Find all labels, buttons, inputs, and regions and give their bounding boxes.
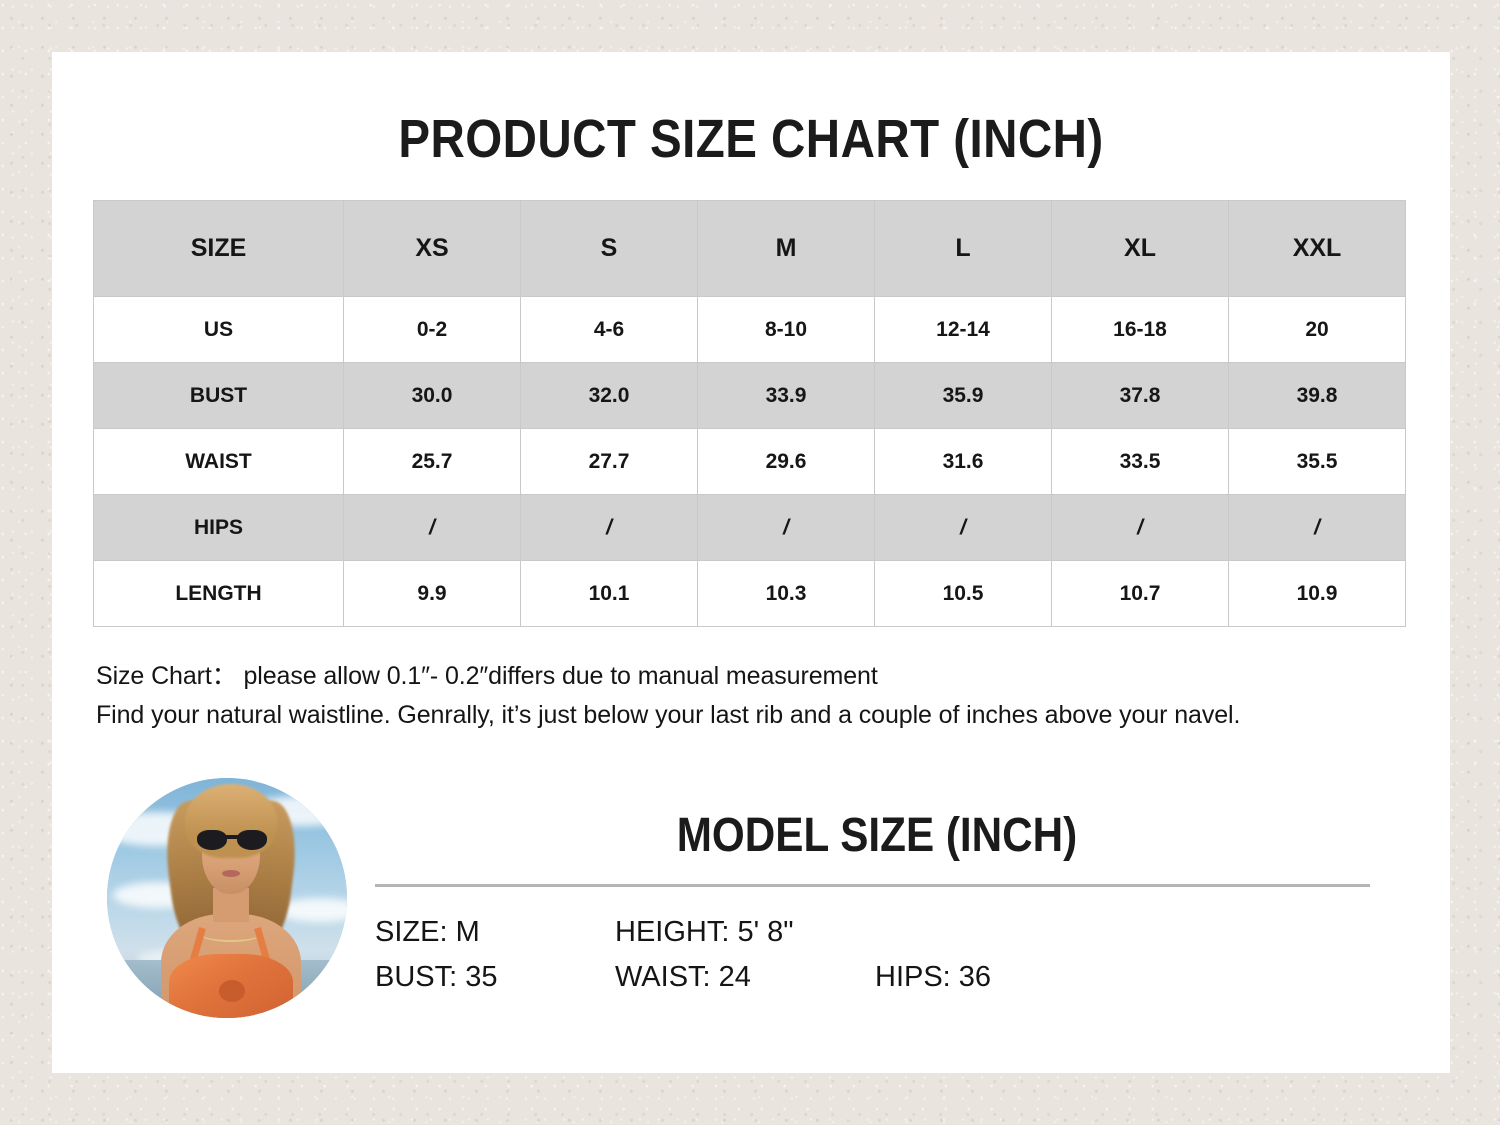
model-size-cell: SIZE: M (375, 916, 615, 949)
page-title: PRODUCT SIZE CHART (INCH) (136, 108, 1366, 170)
cell-us-m: 8-10 (698, 297, 875, 363)
size-chart-notes: Size Chart： please allow 0.1″- 0.2″diffe… (96, 657, 1426, 735)
model-size-cell: HEIGHT: 5' 8" (615, 916, 875, 949)
cell-length-xl: 10.7 (1052, 561, 1229, 627)
product-size-table: SIZEXSSMLXLXXL US0-24-68-1012-1416-1820B… (93, 200, 1406, 627)
cell-hips-l: / (875, 495, 1052, 561)
model-photo (107, 778, 347, 1018)
table-body: US0-24-68-1012-1416-1820BUST30.032.033.9… (94, 297, 1406, 627)
table-header-s: S (521, 201, 698, 297)
model-lips (222, 870, 240, 877)
cell-us-xs: 0-2 (344, 297, 521, 363)
cell-bust-m: 33.9 (698, 363, 875, 429)
sunglasses-icon (197, 830, 267, 850)
cell-us-xl: 16-18 (1052, 297, 1229, 363)
table-row: HIPS////// (94, 495, 1406, 561)
cell-waist-s: 27.7 (521, 429, 698, 495)
cell-hips-s: / (521, 495, 698, 561)
sunglass-lens (197, 830, 227, 850)
table-header-xxl: XXL (1229, 201, 1406, 297)
cell-length-xxl: 10.9 (1229, 561, 1406, 627)
model-size-row: BUST: 35WAIST: 24HIPS: 36 (375, 955, 1375, 1000)
model-size-title: MODEL SIZE (INCH) (433, 808, 1322, 863)
cell-bust-l: 35.9 (875, 363, 1052, 429)
cell-waist-xs: 25.7 (344, 429, 521, 495)
row-label-length: LENGTH (94, 561, 344, 627)
model-size-cell: HIPS: 36 (875, 961, 1135, 994)
cell-bust-s: 32.0 (521, 363, 698, 429)
table-row: WAIST25.727.729.631.633.535.5 (94, 429, 1406, 495)
cell-bust-xl: 37.8 (1052, 363, 1229, 429)
cell-waist-m: 29.6 (698, 429, 875, 495)
cell-bust-xxl: 39.8 (1229, 363, 1406, 429)
cell-waist-xl: 33.5 (1052, 429, 1229, 495)
table-header-row: SIZEXSSMLXLXXL (94, 201, 1406, 297)
table-header-l: L (875, 201, 1052, 297)
cell-us-s: 4-6 (521, 297, 698, 363)
cell-bust-xs: 30.0 (344, 363, 521, 429)
cell-us-xxl: 20 (1229, 297, 1406, 363)
table-header-xl: XL (1052, 201, 1229, 297)
model-size-cell: BUST: 35 (375, 961, 615, 994)
note-line-1: Size Chart： please allow 0.1″- 0.2″diffe… (96, 657, 1426, 696)
cell-length-xs: 9.9 (344, 561, 521, 627)
model-necklace (199, 924, 263, 942)
row-label-us: US (94, 297, 344, 363)
cell-us-l: 12-14 (875, 297, 1052, 363)
table-row: BUST30.032.033.935.937.839.8 (94, 363, 1406, 429)
model-size-cell: WAIST: 24 (615, 961, 875, 994)
row-label-waist: WAIST (94, 429, 344, 495)
row-label-bust: BUST (94, 363, 344, 429)
cell-hips-m: / (698, 495, 875, 561)
cell-hips-xl: / (1052, 495, 1229, 561)
table-row: LENGTH9.910.110.310.510.710.9 (94, 561, 1406, 627)
model-size-grid: SIZE: MHEIGHT: 5' 8"BUST: 35WAIST: 24HIP… (375, 910, 1375, 1000)
model-section-divider (375, 884, 1370, 887)
cell-length-s: 10.1 (521, 561, 698, 627)
cell-length-m: 10.3 (698, 561, 875, 627)
garment-knot (219, 980, 245, 1002)
table-row: US0-24-68-1012-1416-1820 (94, 297, 1406, 363)
cell-hips-xs: / (344, 495, 521, 561)
table-header: SIZEXSSMLXLXXL (94, 201, 1406, 297)
note-line-2: Find your natural waistline. Genrally, i… (96, 696, 1426, 735)
row-label-hips: HIPS (94, 495, 344, 561)
cell-hips-xxl: / (1229, 495, 1406, 561)
table-header-m: M (698, 201, 875, 297)
table-header-size: SIZE (94, 201, 344, 297)
cell-waist-xxl: 35.5 (1229, 429, 1406, 495)
sunglass-lens (237, 830, 267, 850)
size-chart-card: PRODUCT SIZE CHART (INCH) SIZEXSSMLXLXXL… (52, 52, 1450, 1073)
table-header-xs: XS (344, 201, 521, 297)
model-size-row: SIZE: MHEIGHT: 5' 8" (375, 910, 1375, 955)
cell-length-l: 10.5 (875, 561, 1052, 627)
cell-waist-l: 31.6 (875, 429, 1052, 495)
